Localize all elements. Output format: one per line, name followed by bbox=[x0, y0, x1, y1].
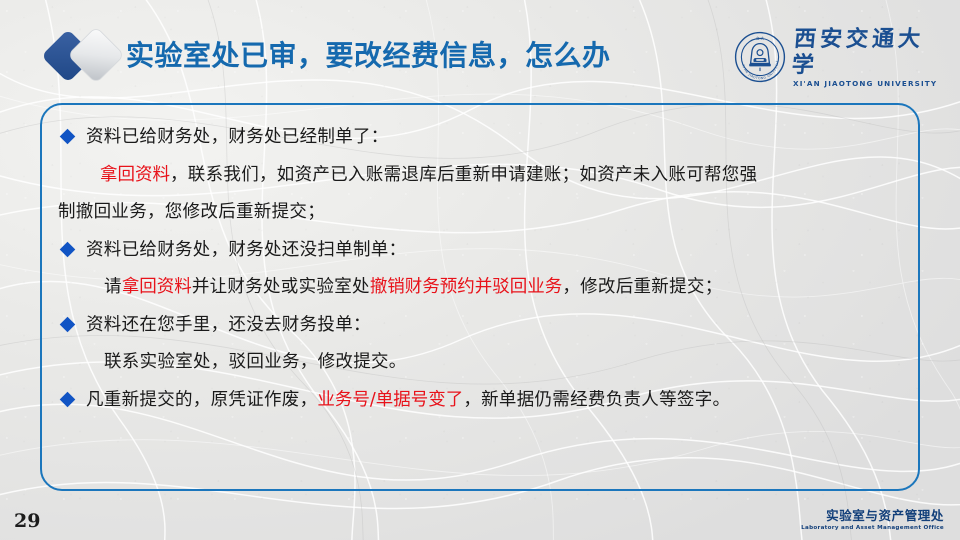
footer-organization: 实验室与资产管理处 Laboratory and Asset Managemen… bbox=[801, 508, 944, 532]
diamond-bullet-icon bbox=[60, 316, 76, 332]
footer-org-cn: 实验室与资产管理处 bbox=[801, 508, 944, 523]
content-body: 资料已给财务处，财务处已经制单了： 拿回资料，联系我们，如资产已入账需退库后重新… bbox=[58, 119, 906, 419]
bullet-block-2: 资料已给财务处，财务处还没扫单制单： 请拿回资料并让财务处或实验室处撤销财务预约… bbox=[58, 232, 906, 307]
slide-canvas: 实验室处已审，要改经费信息，怎么办 交 大 XI'AN JIAO bbox=[0, 0, 960, 540]
bullet-block-1: 资料已给财务处，财务处已经制单了： 拿回资料，联系我们，如资产已入账需退库后重新… bbox=[58, 119, 906, 232]
bullet-line-4-1: 凡重新提交的，原凭证作废，业务号/单据号变了，新单据仍需经费负责人等签字。 bbox=[58, 382, 906, 420]
svg-text:交 大: 交 大 bbox=[756, 36, 764, 41]
university-name-en: XI'AN JIAOTONG UNIVERSITY bbox=[793, 79, 946, 89]
bullet-block-4: 凡重新提交的，原凭证作废，业务号/单据号变了，新单据仍需经费负责人等签字。 bbox=[58, 382, 906, 420]
page-title: 实验室处已审，要改经费信息，怎么办 bbox=[126, 37, 611, 75]
bullet-line-2-1: 请拿回资料并让财务处或实验室处撤销财务预约并驳回业务，修改后重新提交； bbox=[58, 269, 906, 307]
bullet-heading-3: 资料还在您手里，还没去财务投单： bbox=[58, 307, 906, 345]
bullet-heading-2: 资料已给财务处，财务处还没扫单制单： bbox=[58, 232, 906, 270]
slide-header: 实验室处已审，要改经费信息，怎么办 交 大 XI'AN JIAO bbox=[0, 0, 960, 100]
diamond-bullet-icon bbox=[60, 129, 76, 145]
university-logo: 交 大 XI'AN JIAOTONG UNIVERSITY 西安交通大学 XI'… bbox=[734, 28, 946, 86]
page-number: 29 bbox=[14, 510, 40, 532]
university-name-block: 西安交通大学 XI'AN JIAOTONG UNIVERSITY bbox=[793, 26, 946, 89]
diamond-bullet-icon bbox=[60, 241, 76, 257]
diamond-bullet-icon bbox=[60, 391, 76, 407]
bullet-line-1-1: 拿回资料，联系我们，如资产已入账需退库后重新申请建账；如资产未入账可帮您强 bbox=[58, 157, 906, 195]
content-panel: 资料已给财务处，财务处已经制单了： 拿回资料，联系我们，如资产已入账需退库后重新… bbox=[40, 103, 920, 491]
xjtu-seal-icon: 交 大 XI'AN JIAOTONG UNIVERSITY bbox=[734, 31, 786, 83]
university-name-cn: 西安交通大学 bbox=[791, 26, 949, 78]
footer-org-en: Laboratory and Asset Management Office bbox=[801, 524, 944, 532]
bullet-line-3-1: 联系实验室处，驳回业务，修改提交。 bbox=[58, 344, 906, 382]
bullet-block-3: 资料还在您手里，还没去财务投单： 联系实验室处，驳回业务，修改提交。 bbox=[58, 307, 906, 382]
bullet-heading-1: 资料已给财务处，财务处已经制单了： bbox=[58, 119, 906, 157]
bullet-line-1-2: 制撤回业务，您修改后重新提交； bbox=[58, 194, 906, 232]
diamond-pair-icon bbox=[44, 28, 126, 84]
